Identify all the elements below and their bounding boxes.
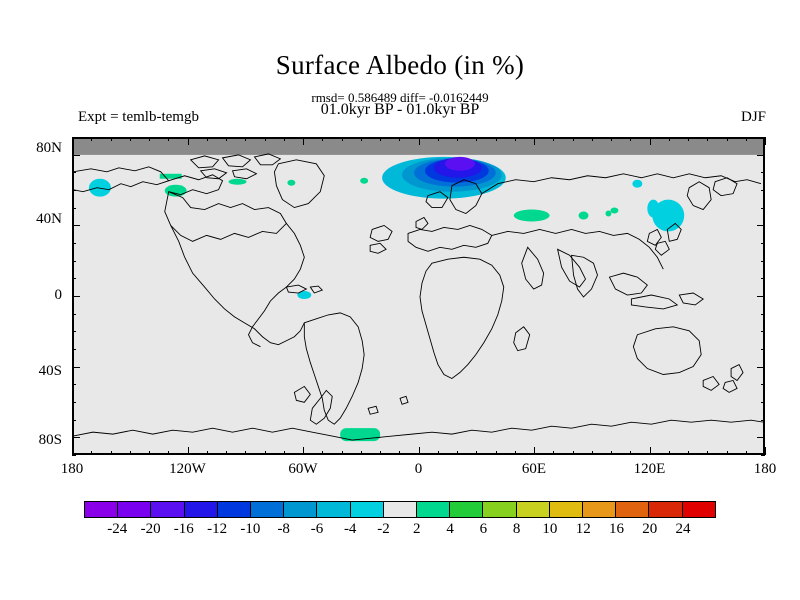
y-axis-tick (72, 455, 76, 456)
y-axis-tick (761, 455, 765, 456)
x-axis-tick (149, 137, 150, 141)
x-axis-tick (265, 137, 266, 141)
x-axis-tick (342, 137, 343, 141)
y-axis-tick (72, 243, 76, 244)
x-axis-tick (650, 447, 651, 455)
x-axis-tick (245, 137, 246, 141)
y-tick-label: 40S (0, 363, 62, 380)
colorbar-swatch (351, 502, 384, 517)
x-axis-tick (226, 137, 227, 141)
y-axis-tick (761, 384, 765, 385)
colorbar-swatch (450, 502, 483, 517)
y-axis-tick (72, 349, 76, 350)
x-axis-tick (361, 137, 362, 141)
x-axis-tick (188, 137, 189, 145)
x-axis-tick (111, 137, 112, 141)
x-axis-tick (457, 451, 458, 455)
y-axis-tick (72, 402, 76, 403)
x-axis-tick (111, 451, 112, 455)
colorbar-tick-label: 24 (660, 521, 706, 538)
x-axis-tick (630, 137, 631, 141)
y-axis-tick (72, 367, 80, 368)
colorbar-swatch (317, 502, 350, 517)
x-axis-tick (226, 451, 227, 455)
anomaly-caspian (514, 210, 550, 222)
y-axis-tick (72, 331, 76, 332)
x-axis-tick (534, 447, 535, 455)
x-tick-label: 120W (158, 461, 218, 478)
colorbar-swatch (616, 502, 649, 517)
x-axis-tick (476, 451, 477, 455)
x-axis-tick (707, 451, 708, 455)
anomaly-bering (89, 179, 111, 197)
x-axis-tick (765, 137, 766, 145)
x-axis-tick (130, 137, 131, 141)
x-axis-tick (746, 137, 747, 141)
x-axis-tick (611, 451, 612, 455)
x-axis-tick (207, 137, 208, 141)
x-tick-label: 180 (42, 461, 102, 478)
y-axis-tick (72, 296, 80, 297)
colorbar-swatch (384, 502, 417, 517)
x-axis-tick (380, 451, 381, 455)
x-axis-tick (707, 137, 708, 141)
x-axis-tick (284, 451, 285, 455)
x-axis-tick (688, 451, 689, 455)
y-axis-tick (72, 208, 76, 209)
x-axis-tick (265, 451, 266, 455)
y-axis-tick (72, 314, 76, 315)
page-title: Surface Albedo (in %) (0, 50, 800, 81)
season-label: DJF (741, 109, 766, 126)
x-axis-tick (245, 451, 246, 455)
x-axis-tick (322, 137, 323, 141)
x-axis-tick (496, 137, 497, 141)
x-axis-tick (553, 137, 554, 141)
y-axis-tick (757, 155, 765, 156)
colorbar-swatch (218, 502, 251, 517)
x-axis-tick (91, 451, 92, 455)
y-axis-tick (757, 437, 765, 438)
x-axis-tick (496, 451, 497, 455)
y-axis-tick (72, 225, 80, 226)
anomaly-barents-peak (445, 157, 475, 171)
colorbar-swatch (251, 502, 284, 517)
x-axis-tick (322, 451, 323, 455)
x-axis-tick (207, 451, 208, 455)
x-axis-tick (534, 137, 535, 145)
x-axis-tick (149, 451, 150, 455)
x-axis-tick (476, 137, 477, 141)
colorbar-swatch (649, 502, 682, 517)
colorbar-swatch (417, 502, 450, 517)
x-tick-label: 60W (273, 461, 333, 478)
y-axis-tick (761, 349, 765, 350)
y-axis-tick (761, 278, 765, 279)
y-axis-tick (761, 208, 765, 209)
x-axis-tick (419, 447, 420, 455)
anomaly-scandinavia (360, 178, 368, 184)
x-axis-tick (592, 451, 593, 455)
x-axis-tick (669, 137, 670, 141)
anomaly-iceland (287, 180, 295, 186)
x-axis-tick (669, 451, 670, 455)
anomaly-greenland-west (229, 179, 247, 185)
y-axis-tick (72, 278, 76, 279)
y-axis-tick (72, 137, 76, 138)
x-axis-tick (727, 137, 728, 141)
x-axis-tick (399, 137, 400, 141)
y-tick-label: 0 (0, 287, 62, 304)
x-axis-tick (168, 451, 169, 455)
y-axis-tick (72, 420, 76, 421)
x-axis-tick (168, 137, 169, 141)
x-axis-tick (765, 447, 766, 455)
x-axis-tick (650, 137, 651, 145)
y-axis-tick (761, 420, 765, 421)
colorbar-swatch (517, 502, 550, 517)
colorbar-swatch (151, 502, 184, 517)
y-axis-tick (72, 172, 76, 173)
colorbar-tick-labels: -24-20-16-12-10-8-6-4-224681012162024 (84, 521, 716, 543)
anomaly-japan-sea (647, 200, 659, 218)
colorbar-swatch (118, 502, 151, 517)
x-axis-tick (457, 137, 458, 141)
y-axis-tick (761, 137, 765, 138)
x-axis-tick (438, 451, 439, 455)
x-axis-tick (611, 137, 612, 141)
anomaly-ne-asia-small (632, 180, 642, 188)
x-axis-tick (438, 137, 439, 141)
x-axis-tick (630, 451, 631, 455)
colorbar-swatch (185, 502, 218, 517)
colorbar-swatch (85, 502, 118, 517)
x-axis-tick (303, 137, 304, 145)
x-axis-tick (303, 447, 304, 455)
y-axis-tick (757, 225, 765, 226)
x-axis-tick (553, 451, 554, 455)
x-axis-tick (573, 137, 574, 141)
x-axis-tick (688, 137, 689, 141)
x-axis-tick (72, 137, 73, 145)
x-axis-tick (188, 447, 189, 455)
x-axis-tick (515, 137, 516, 141)
x-axis-tick (361, 451, 362, 455)
y-axis-tick (761, 190, 765, 191)
y-tick-label: 80N (0, 140, 62, 157)
y-axis-tick (761, 261, 765, 262)
x-axis-tick (380, 137, 381, 141)
x-tick-label: 60E (504, 461, 564, 478)
x-axis-tick (130, 451, 131, 455)
y-axis-tick (761, 402, 765, 403)
x-tick-label: 180 (735, 461, 795, 478)
x-axis-tick (399, 451, 400, 455)
x-axis-tick (72, 447, 73, 455)
colorbar-swatch (483, 502, 516, 517)
x-tick-label: 0 (389, 461, 449, 478)
y-axis-tick (757, 367, 765, 368)
colorbar-swatch (583, 502, 616, 517)
y-tick-label: 80S (0, 432, 62, 449)
anomaly-central-asia (579, 212, 589, 220)
y-axis-tick (72, 261, 76, 262)
x-axis-tick (592, 137, 593, 141)
x-axis-tick (91, 137, 92, 141)
y-axis-tick (761, 172, 765, 173)
x-axis-tick (727, 451, 728, 455)
y-axis-tick (72, 384, 76, 385)
x-axis-tick (284, 137, 285, 141)
colorbar-swatch (284, 502, 317, 517)
x-axis-tick (515, 451, 516, 455)
x-tick-label: 120E (620, 461, 680, 478)
x-axis-tick (419, 137, 420, 145)
anomaly-mongolia (610, 208, 618, 214)
y-tick-label: 40N (0, 211, 62, 228)
y-axis-tick (761, 331, 765, 332)
experiment-label: Expt = temlb-temgb (78, 109, 199, 126)
colorbar (84, 501, 716, 518)
colorbar-swatch (683, 502, 715, 517)
y-axis-tick (72, 437, 80, 438)
map-plot-area (72, 137, 765, 455)
y-axis-tick (757, 296, 765, 297)
x-axis-tick (342, 451, 343, 455)
y-axis-tick (761, 314, 765, 315)
world-map-svg (73, 138, 764, 454)
anomaly-mongolia-2 (605, 211, 611, 217)
x-axis-tick (746, 451, 747, 455)
y-axis-tick (72, 190, 76, 191)
x-axis-tick (573, 451, 574, 455)
colorbar-swatch (550, 502, 583, 517)
y-axis-tick (761, 243, 765, 244)
y-axis-tick (72, 155, 80, 156)
